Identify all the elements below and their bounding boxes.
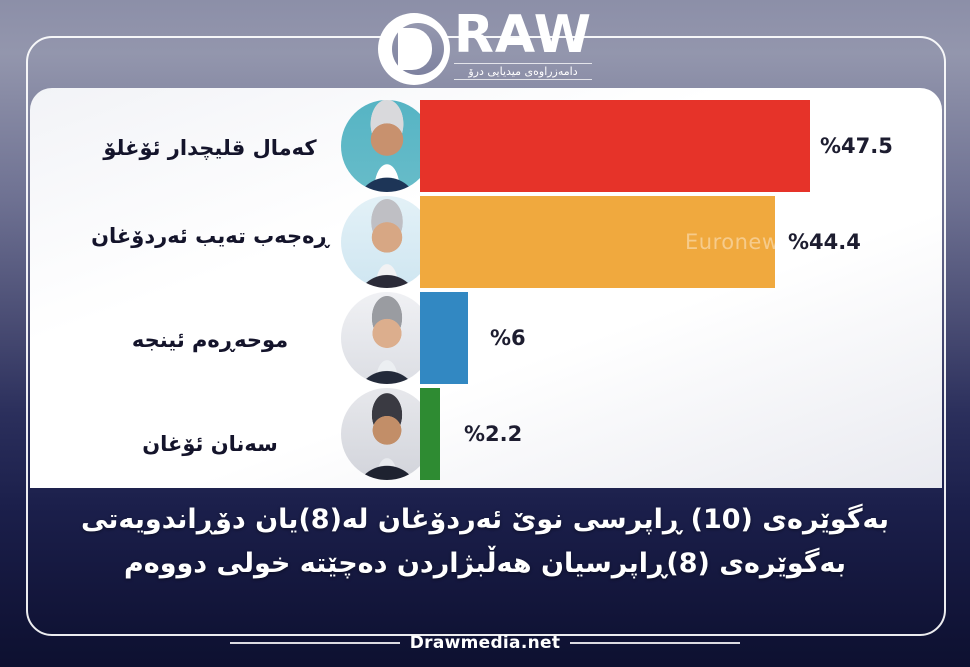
brand-logo: RAW دامەزراوەی میدیایی درۆ	[0, 6, 970, 90]
footer: Drawmedia.net	[0, 633, 970, 653]
caption-line-2: بەگوێرەی (8)ڕاپرسیان هەڵبژاردن دەچێتە خو…	[32, 542, 938, 586]
bar-value-1: %47.5	[820, 134, 893, 158]
candidate-name-2: ڕەجەب تەیب ئەردۆغان	[60, 222, 360, 250]
bar-3	[420, 292, 468, 384]
infographic-canvas: RAW دامەزراوەی میدیایی درۆ کەمال قلیچدار…	[0, 0, 970, 667]
footer-site-url: Drawmedia.net	[410, 633, 561, 653]
bar-value-3: %6	[490, 326, 526, 350]
candidate-name-3: موحەڕەم ئینجە	[60, 326, 360, 354]
bar-value-4: %2.2	[464, 422, 522, 446]
caption-block: بەگوێرەی (10) ڕاپرسی نوێ ئەردۆغان لە(8)ی…	[32, 498, 938, 585]
table-row: کەمال قلیچدار ئۆغلۆ %47.5	[30, 96, 942, 196]
table-row: ڕەجەب تەیب ئەردۆغان Euronews %44.4	[30, 192, 942, 292]
logo-subtitle: دامەزراوەی میدیایی درۆ	[454, 63, 592, 80]
bar-value-2: %44.4	[788, 230, 861, 254]
bar-chart: کەمال قلیچدار ئۆغلۆ %47.5 ڕەجەب تەیب ئەر…	[30, 88, 942, 488]
candidate-name-1: کەمال قلیچدار ئۆغلۆ	[60, 134, 360, 162]
table-row: سەنان ئۆغان %2.2	[30, 384, 942, 484]
draw-d-logo-icon	[378, 13, 450, 85]
logo-wordmark: RAW	[454, 11, 592, 60]
table-row: موحەڕەم ئینجە %6	[30, 288, 942, 388]
caption-line-1: بەگوێرەی (10) ڕاپرسی نوێ ئەردۆغان لە(8)ی…	[32, 498, 938, 542]
letter-d-shape	[398, 28, 432, 70]
bar-4	[420, 388, 440, 480]
candidate-name-4: سەنان ئۆغان	[60, 430, 360, 458]
footer-rule-left	[230, 642, 400, 644]
footer-rule-right	[570, 642, 740, 644]
chart-watermark: Euronews	[685, 230, 791, 254]
bar-1	[420, 100, 810, 192]
